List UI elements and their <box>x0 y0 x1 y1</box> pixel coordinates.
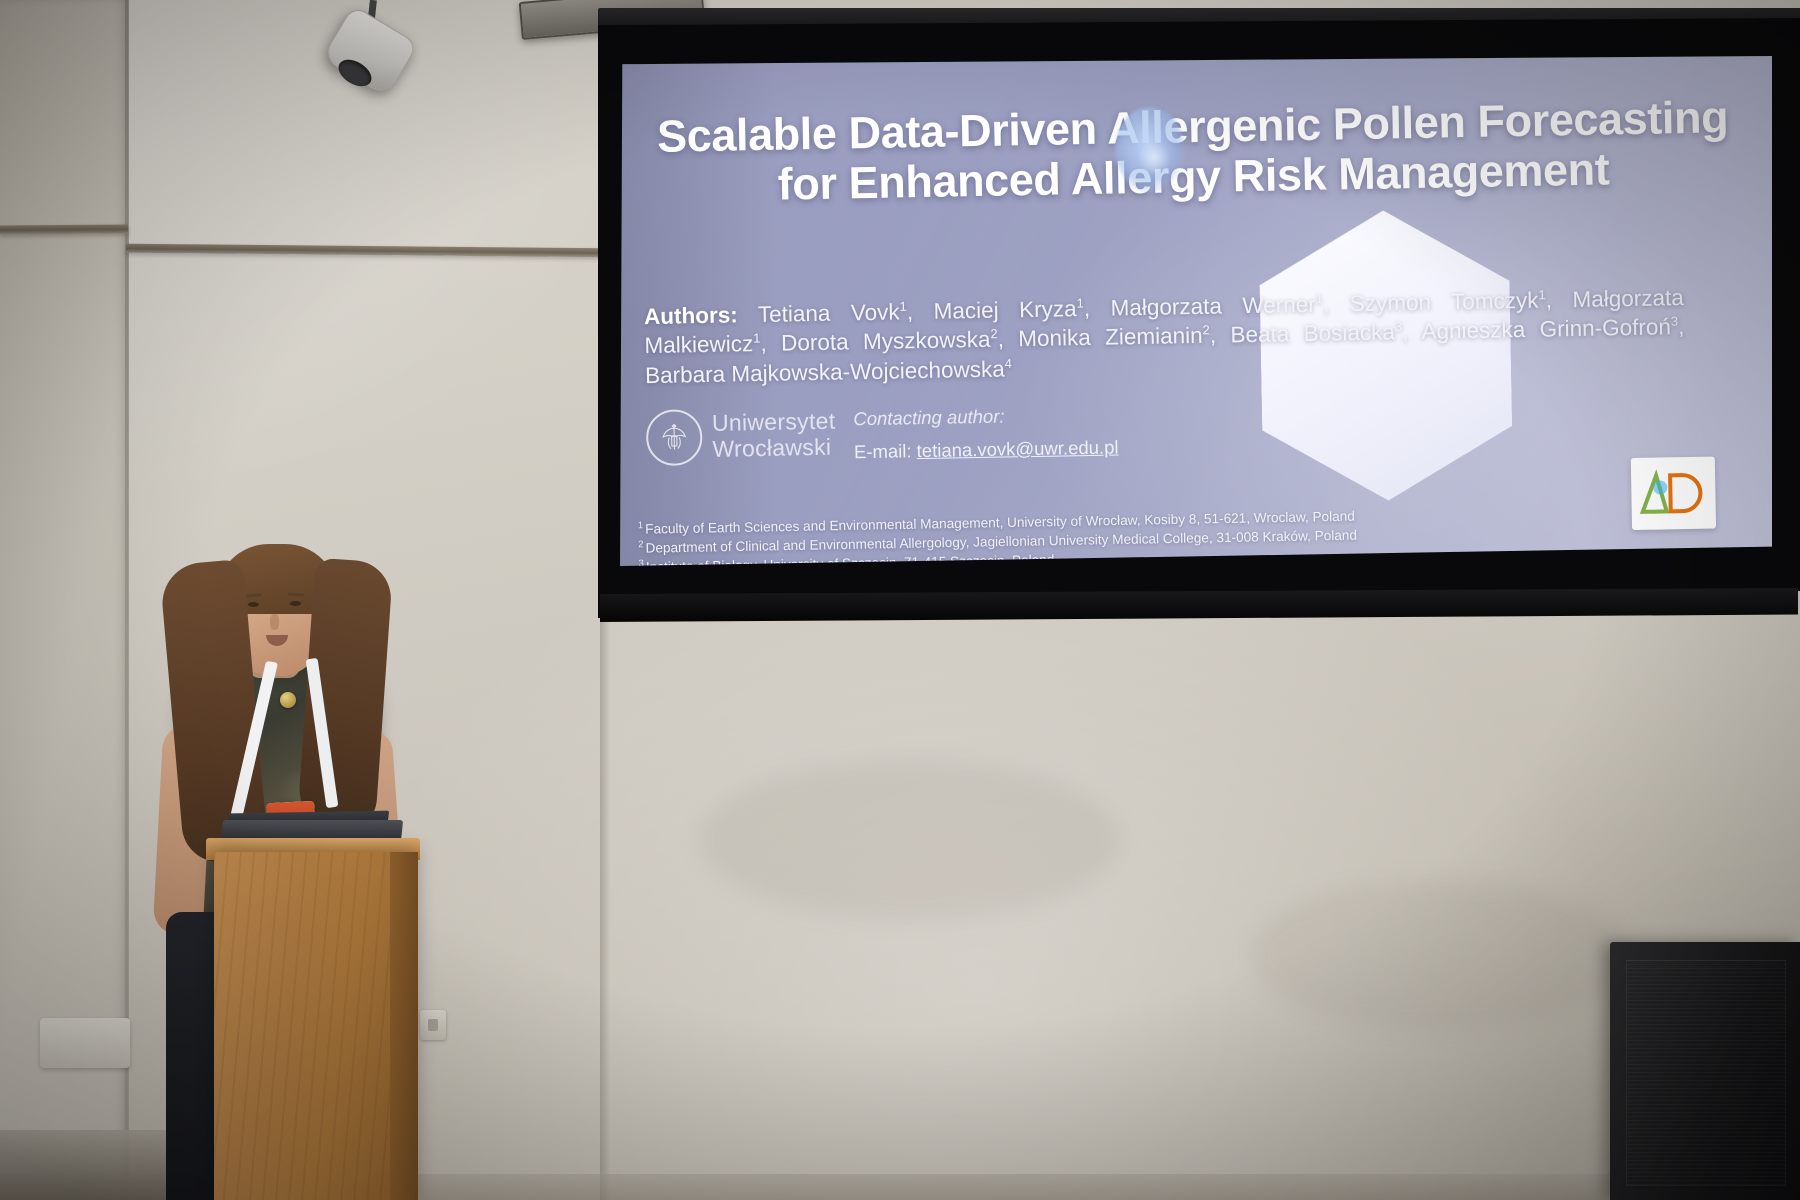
university-name: Uniwersytet Wrocławski <box>712 409 836 463</box>
university-name-line2: Wrocławski <box>712 435 836 463</box>
contact-email-line: E-mail: tetiana.vovk@uwr.edu.pl <box>854 436 1119 463</box>
speaker-grille <box>1626 960 1786 1186</box>
eye <box>248 602 259 607</box>
contact-block: Contacting author: E-mail: tetiana.vovk@… <box>853 401 1119 463</box>
projected-slide: Scalable Data-Driven Allergenic Pollen F… <box>620 56 1772 566</box>
ad-logo-icon <box>1631 457 1716 531</box>
eye <box>290 601 301 606</box>
university-name-line1: Uniwersytet <box>712 409 836 437</box>
affiliation-marker: 3 <box>638 558 643 566</box>
wall-trim-rail <box>0 225 128 235</box>
email-address[interactable]: tetiana.vovk@uwr.edu.pl <box>916 436 1118 461</box>
contact-row: Uniwersytet Wrocławski Contacting author… <box>646 397 1347 467</box>
affiliation-marker: 2 <box>638 539 643 550</box>
eagle-crest-icon <box>646 409 703 466</box>
wall-smudge <box>700 760 1120 920</box>
affiliation-marker: 1 <box>638 520 643 531</box>
wall-smudge <box>1250 880 1630 1030</box>
presentation-photo-scene: Scalable Data-Driven Allergenic Pollen F… <box>0 0 1800 1200</box>
projection-screen: Scalable Data-Driven Allergenic Pollen F… <box>598 8 1800 648</box>
floor-speaker <box>1610 942 1800 1200</box>
authors-label: Authors: <box>644 302 738 329</box>
podium <box>214 852 418 1200</box>
email-label: E-mail: <box>854 440 912 462</box>
authors-block: Authors: Tetiana Vovk1, Maciej Kryza1, M… <box>644 283 1685 390</box>
wood-grain <box>214 852 418 1200</box>
nose <box>270 614 279 630</box>
necklace-pendant <box>280 692 296 708</box>
contacting-author-heading: Contacting author: <box>853 403 1118 430</box>
wall-plate <box>40 1018 130 1068</box>
authors-names: Tetiana Vovk1, Maciej Kryza1, Małgorzata… <box>644 285 1684 388</box>
slide-title: Scalable Data-Driven Allergenic Pollen F… <box>636 92 1750 211</box>
podium-side-panel <box>390 852 418 1200</box>
university-logo: Uniwersytet Wrocławski <box>646 407 836 466</box>
